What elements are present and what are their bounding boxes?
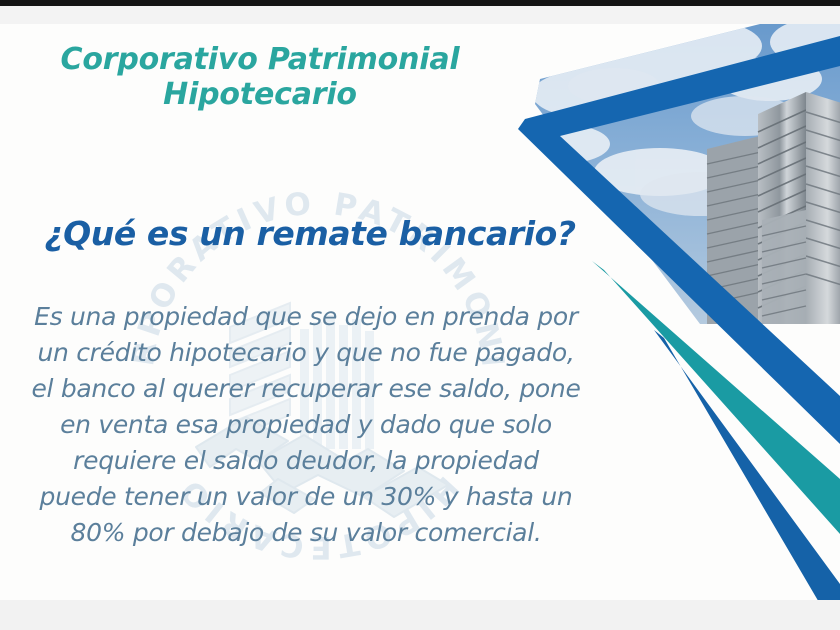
body-line: el banco al querer recuperar ese saldo, …: [0, 371, 626, 407]
headline: ¿Qué es un remate bancario?: [0, 214, 620, 253]
bottom-grey-bar: [0, 600, 840, 630]
text-layer: Corporativo Patrimonial Hipotecario ¿Qué…: [0, 24, 840, 604]
body-line: un crédito hipotecario y que no fue paga…: [0, 335, 626, 371]
brand-title-line2: Hipotecario: [163, 77, 357, 112]
body-copy: Es una propiedad que se dejo en prenda p…: [0, 299, 626, 551]
brand-title: Corporativo Patrimonial Hipotecario: [0, 42, 520, 113]
body-line: puede tener un valor de un 30% y hasta u…: [0, 479, 626, 515]
body-line: en venta esa propiedad y dado que solo: [0, 407, 626, 443]
body-line: 80% por debajo de su valor comercial.: [0, 515, 626, 551]
body-line: Es una propiedad que se dejo en prenda p…: [0, 299, 626, 335]
body-line: requiere el saldo deudor, la propiedad: [0, 443, 626, 479]
brand-title-line1: Corporativo Patrimonial: [61, 42, 460, 77]
slide-canvas: CORPORATIVO PATRIMONIAL HIPOTECARIO: [0, 24, 840, 604]
slide-image: CORPORATIVO PATRIMONIAL HIPOTECARIO: [0, 0, 840, 630]
